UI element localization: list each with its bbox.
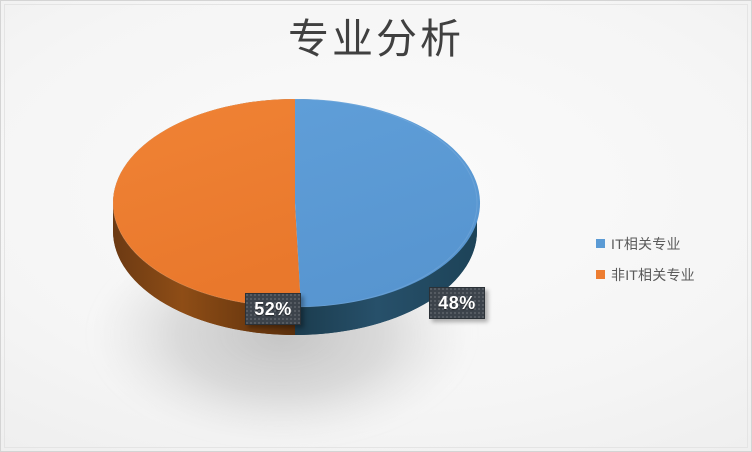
legend-label-it: IT相关专业 [611, 234, 681, 254]
data-label-non-it: 52% [245, 293, 301, 325]
pie-chart-graphic [70, 80, 530, 430]
legend-swatch-icon-non-it [596, 270, 605, 279]
legend-item-non-it[interactable]: 非IT相关专业 [596, 259, 742, 290]
legend-label-non-it: 非IT相关专业 [611, 265, 695, 285]
chart-title: 专业分析 [0, 8, 752, 70]
legend-item-it[interactable]: IT相关专业 [596, 228, 742, 259]
data-label-it: 48% [429, 287, 485, 319]
legend-swatch-icon-it [596, 239, 605, 248]
chart-legend: IT相关专业 非IT相关专业 [596, 228, 742, 290]
plot-area: 52% 48% [70, 80, 530, 430]
chart-canvas: 专业分析 [0, 0, 752, 452]
